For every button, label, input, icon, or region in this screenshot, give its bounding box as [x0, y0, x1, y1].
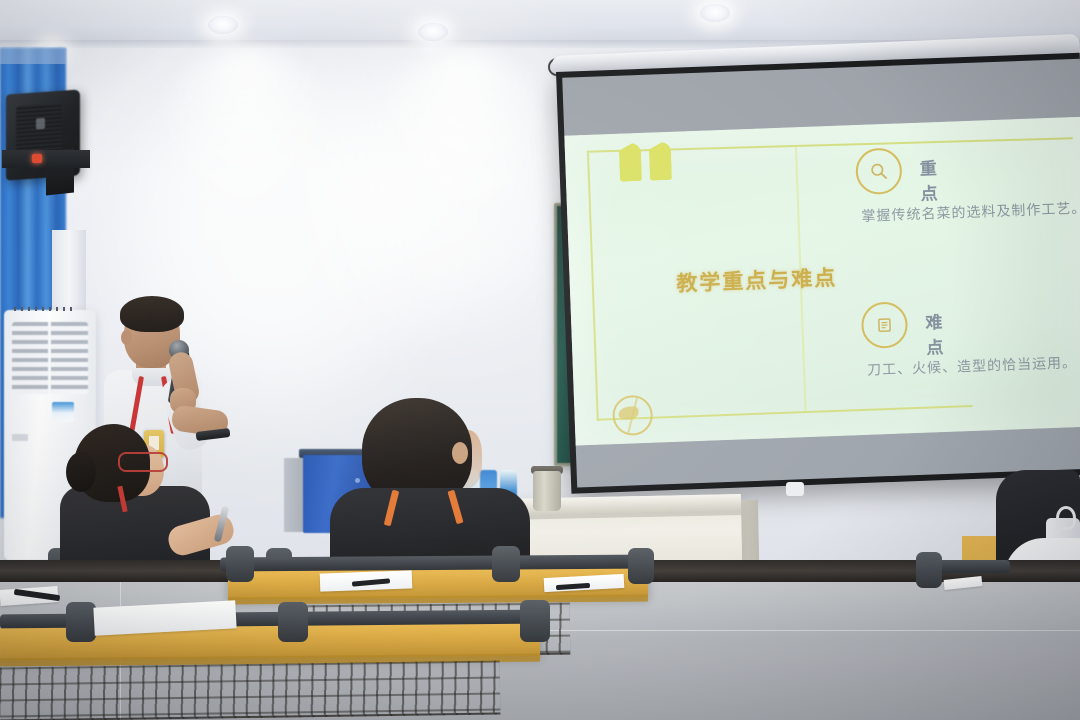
slide-point-heading: 难点 — [925, 308, 947, 359]
ac-button-row[interactable] — [14, 307, 74, 311]
globe-icon — [612, 395, 653, 436]
presenter-ear — [121, 330, 132, 345]
quotation-mark-icon — [619, 142, 678, 184]
desk-divider-cap — [520, 600, 550, 642]
classroom-photo: 教学重点与难点 重点 掌握传统名菜的选料及制作工艺。 — [0, 0, 1080, 720]
ac-control-panel[interactable] — [2, 150, 90, 168]
desk-divider-cap — [226, 546, 254, 582]
ac-label — [52, 402, 74, 422]
desk-divider-cap — [492, 546, 520, 582]
travel-mug[interactable] — [533, 471, 561, 511]
presenter-hair — [120, 296, 184, 332]
slide-point-body: 刀工、火候、造型的恰当运用。 — [867, 352, 1080, 382]
desk-divider-cap — [628, 548, 654, 584]
desk-divider-cap — [66, 602, 96, 642]
attendee-center-ear — [452, 442, 468, 464]
speaker-badge — [36, 118, 45, 130]
slide-border — [597, 405, 973, 421]
book-icon — [861, 301, 909, 349]
small-dispenser[interactable] — [786, 482, 804, 496]
curtain-rail — [0, 48, 66, 64]
slide-title: 教学重点与难点 — [641, 261, 872, 299]
projector-screen: 教学重点与难点 重点 掌握传统名菜的选料及制作工艺。 — [556, 53, 1080, 494]
slide-border — [587, 153, 599, 421]
eyeglasses-icon — [118, 452, 168, 472]
light-pool — [150, 48, 340, 248]
bottle-loop-icon — [1056, 506, 1076, 530]
slide-point-heading: 重点 — [919, 154, 941, 205]
desk-divider-cap — [916, 552, 942, 588]
screen-surface: 教学重点与难点 重点 掌握传统名菜的选料及制作工艺。 — [562, 59, 1080, 488]
light-pool — [368, 50, 558, 250]
attendee-left-hair-bun — [66, 452, 96, 492]
ac-vent-divider — [48, 322, 51, 394]
projected-slide: 教学重点与难点 重点 掌握传统名菜的选料及制作工艺。 — [564, 117, 1080, 446]
ceiling-downlight — [208, 16, 238, 34]
ac-power-indicator-icon — [32, 154, 42, 163]
desk-rail — [930, 560, 1010, 573]
slide-point-body: 掌握传统名菜的选料及制作工艺。 — [861, 198, 1080, 228]
ceiling-downlight — [418, 23, 448, 41]
desk-book-basket — [0, 661, 500, 720]
desk-divider-cap — [278, 602, 308, 642]
cabinet-handle-icon[interactable] — [355, 478, 360, 483]
ceiling-downlight — [700, 4, 730, 22]
ac-logo — [12, 434, 28, 441]
magnifier-icon — [855, 147, 903, 195]
